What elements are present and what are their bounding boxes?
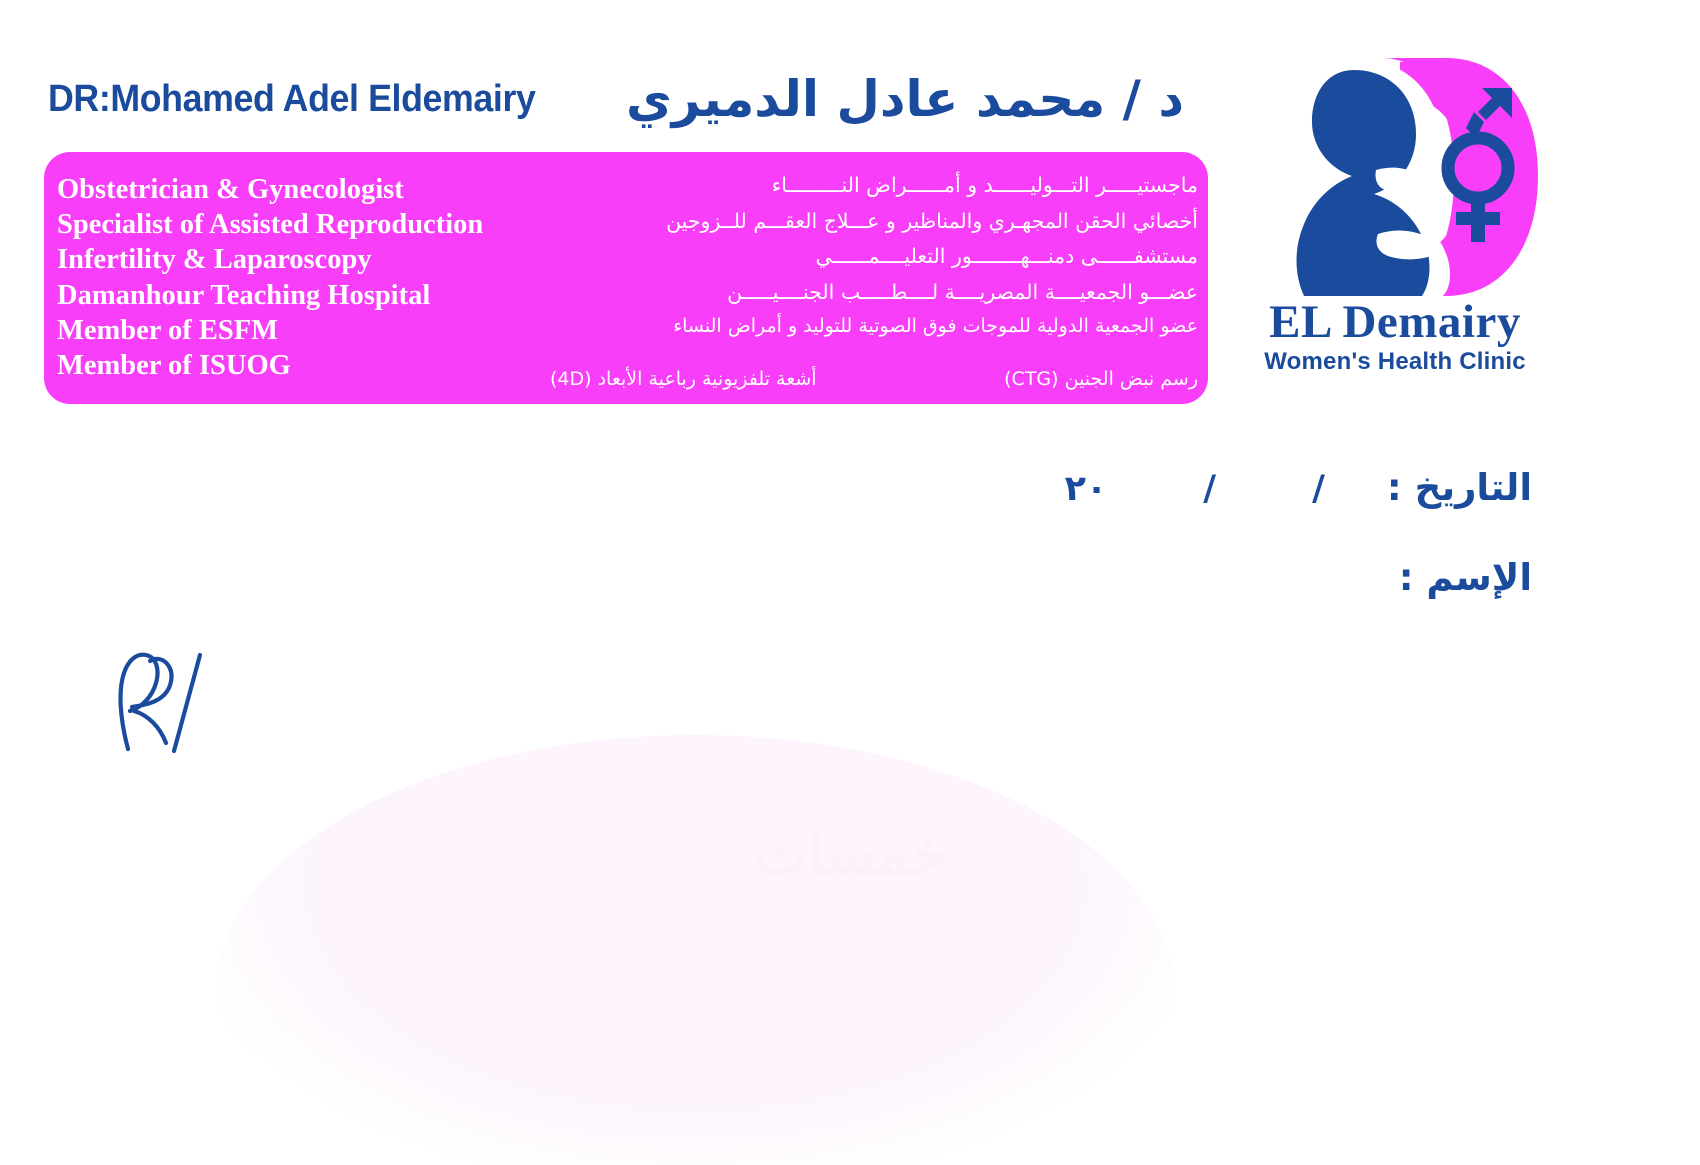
- prescription-rx-icon: [104, 645, 234, 755]
- credential-item: Infertility & Laparoscopy: [57, 242, 577, 277]
- credential-item: Specialist of Assisted Reproduction: [57, 207, 577, 242]
- date-year-prefix: ٢٠: [1065, 469, 1108, 509]
- credential-item: Obstetrician & Gynecologist: [57, 172, 577, 207]
- clinic-logo: EL Demairy Women's Health Clinic: [1232, 52, 1558, 397]
- credential-item: Member of ESFM: [57, 313, 577, 348]
- date-slash-day: /: [1312, 469, 1325, 509]
- services-row: رسم نبض الجنين (CTG) أشعة تلفزيونية رباع…: [550, 368, 1198, 390]
- credential-item: Damanhour Teaching Hospital: [57, 278, 577, 313]
- logo-wordmark: EL Demairy: [1232, 295, 1558, 349]
- background-blob: [215, 735, 1175, 1165]
- credential-item-arabic: أخصائي الحقن المجهـري والمناظير و عـــلا…: [550, 204, 1198, 240]
- credential-item-arabic: عضو الجمعية الدولية للموجات فوق الصوتية …: [550, 310, 1198, 343]
- service-ctg: رسم نبض الجنين (CTG): [1004, 368, 1198, 390]
- service-4d-ultrasound: أشعة تلفزيونية رباعية الأبعاد (4D): [550, 368, 817, 390]
- doctor-name-arabic: د / محمد عادل الدميري: [590, 70, 1220, 128]
- credentials-panel: Obstetrician & Gynecologist Specialist o…: [44, 152, 1208, 404]
- credential-item-arabic: مستشفــــــى دمنـــهــــــــور التعليـــ…: [550, 239, 1198, 275]
- credentials-english-list: Obstetrician & Gynecologist Specialist o…: [57, 172, 577, 383]
- credential-item-arabic: ماجستيـــــر التـــوليــــــد و أمــــــ…: [550, 168, 1198, 204]
- watermark-text: خمسات: [0, 820, 1700, 888]
- date-label: التاريخ :: [1387, 466, 1532, 509]
- credentials-arabic-list: ماجستيـــــر التـــوليــــــد و أمــــــ…: [550, 168, 1198, 343]
- credential-item: Member of ISUOG: [57, 348, 577, 383]
- name-field-row: الإسم :: [1399, 556, 1532, 599]
- credential-item-arabic: عضـــو الجمعيــــة المصريــــة لــــطـــ…: [550, 275, 1198, 311]
- date-slash-month: /: [1203, 469, 1216, 509]
- name-label: الإسم :: [1399, 556, 1532, 599]
- pregnant-woman-logo-icon: [1250, 52, 1540, 302]
- date-field-row: التاريخ : / / ٢٠: [1065, 466, 1532, 509]
- doctor-name-english: DR:Mohamed Adel Eldemairy: [48, 78, 535, 121]
- logo-tagline: Women's Health Clinic: [1232, 348, 1558, 376]
